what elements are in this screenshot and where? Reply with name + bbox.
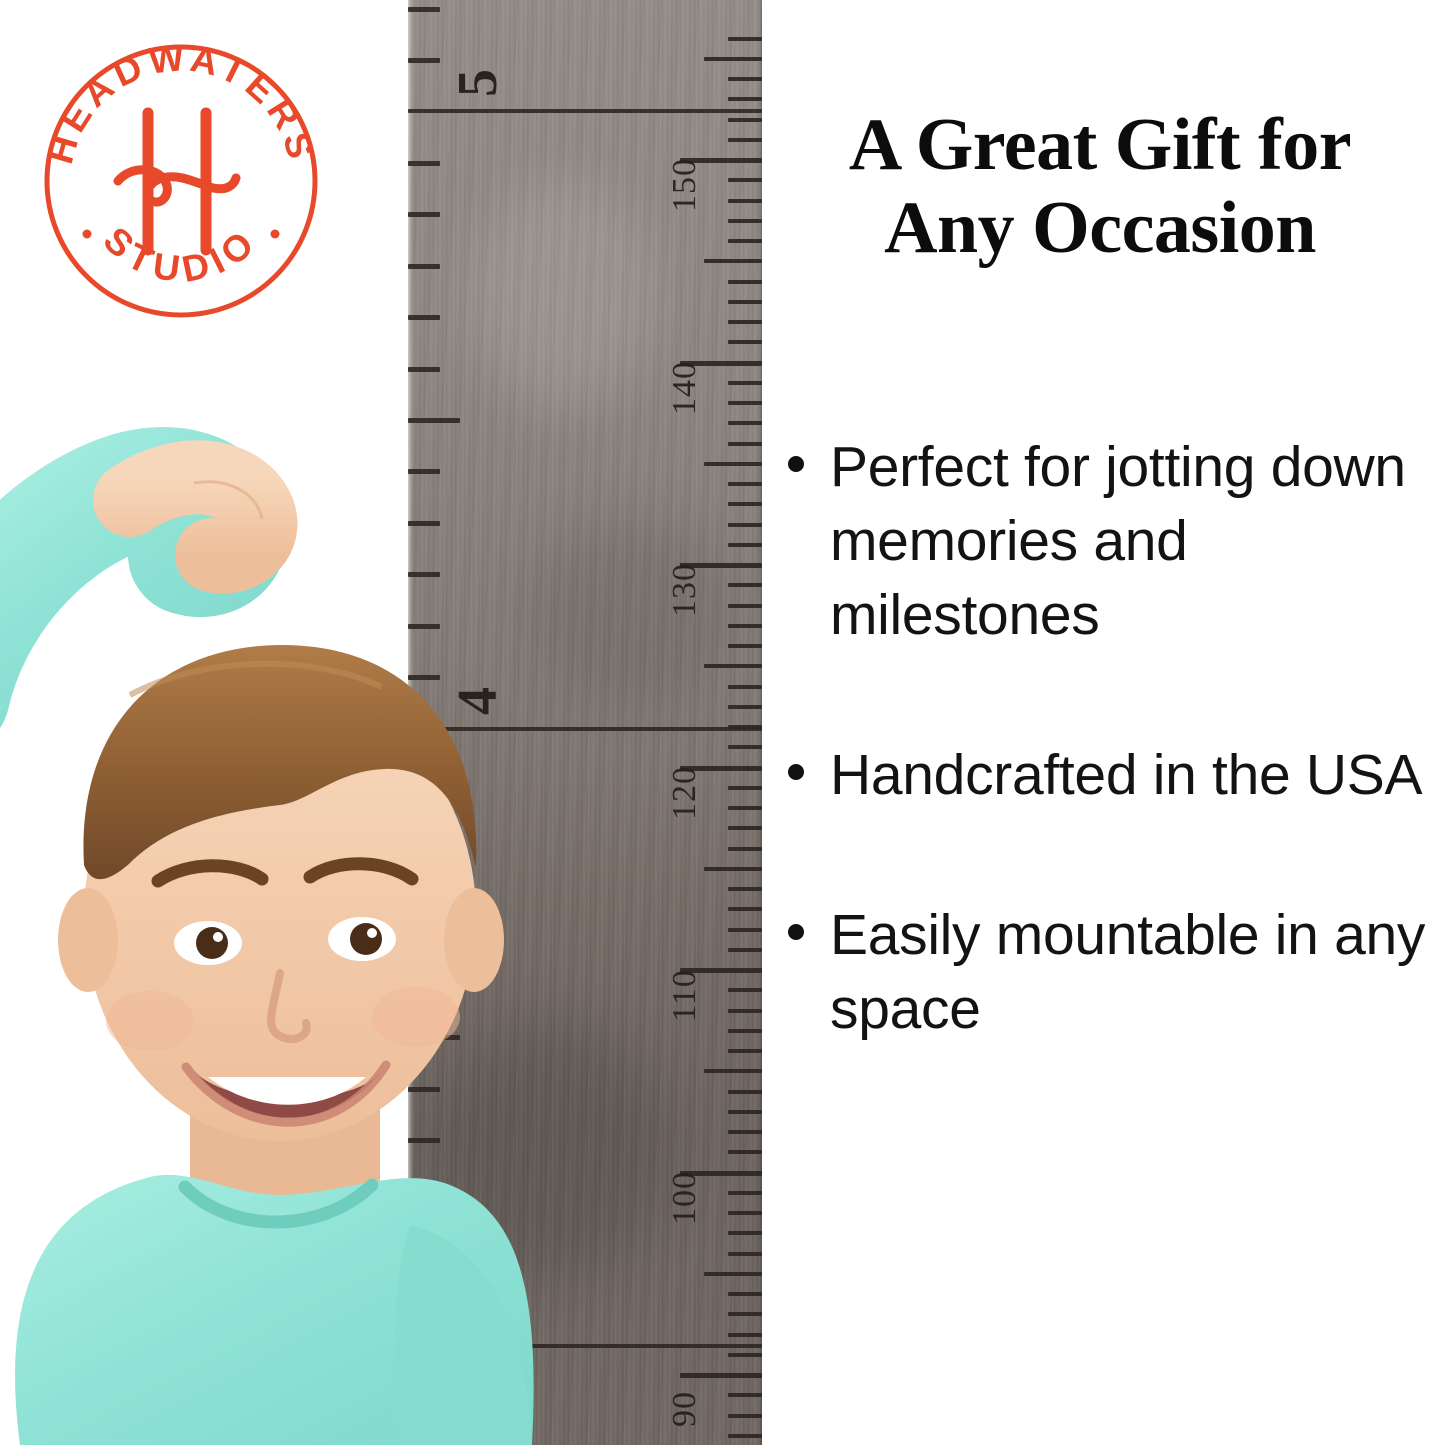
right-pupil [350,923,382,955]
ruler-tick-minor [728,948,762,952]
ruler-tick-minor [728,482,762,486]
ruler-cm-label: 130 [666,563,704,617]
ruler-tick-minor [728,705,762,709]
ruler-tick-mid [704,1272,762,1276]
left-pupil [196,927,228,959]
ruler-tick-minor [728,1110,762,1114]
ruler-tick-mid [704,57,762,61]
copy-panel: A Great Gift for Any Occasion Perfect fo… [780,0,1445,1445]
ruler-tick-mid [704,259,762,263]
ruler-tick-mid [704,462,762,466]
ruler-tick-minor [728,1211,762,1215]
ruler-inch-tick [408,367,440,372]
ruler-tick-minor [728,786,762,790]
ruler-tick-minor [728,320,762,324]
left-cheek [106,991,194,1051]
ruler-tick-minor [728,745,762,749]
list-item: Perfect for jotting down memories and mi… [788,430,1438,652]
list-item: Easily mountable in any space [788,898,1438,1046]
ruler-tick-minor [728,1191,762,1195]
ruler-tick-minor [728,1150,762,1154]
ruler-cm-label: 150 [666,158,704,212]
logo-arc-top: HEADWATERS [39,38,323,168]
headline-line-1: A Great Gift for [780,104,1420,187]
ruler-tick-minor [728,1231,762,1235]
bullet-text: Handcrafted in the USA [830,738,1422,812]
ruler-cm-label: 90 [666,1391,704,1427]
right-cheek [372,987,460,1047]
ruler-tick-mid [704,1069,762,1073]
ruler-tick-minor [728,1090,762,1094]
ruler-inch-tick [408,7,440,12]
ruler-right-edge-shadow [757,0,762,1445]
ruler-tick-minor [728,442,762,446]
ruler-inch-tick [408,264,440,269]
svg-text:HEADWATERS: HEADWATERS [39,38,323,168]
ruler-tick-minor [728,928,762,932]
ruler-tick-minor [728,1333,762,1337]
brand-logo: HEADWATERS STUDIO [38,38,324,324]
ruler-tick-minor [728,1292,762,1296]
bullet-dot-icon [788,764,804,780]
ruler-tick-minor [728,583,762,587]
ruler-tick-minor [728,1049,762,1053]
ruler-tick-minor [728,826,762,830]
ruler-tick-minor [728,178,762,182]
ruler-tick-minor [728,502,762,506]
ruler-tick-minor [728,1130,762,1134]
right-ear [444,888,504,992]
ruler-foot-label: 5 [446,69,510,97]
ruler-tick-minor [728,1009,762,1013]
ruler-tick-minor [728,988,762,992]
ruler-tick-minor [728,847,762,851]
ruler-tick-minor [728,340,762,344]
ruler-foot-line [408,109,762,113]
left-eye-glint [213,932,223,942]
ruler-tick-minor [728,239,762,243]
ruler-tick-minor [728,97,762,101]
product-infographic: HEADWATERS STUDIO 15014013012011010090 5… [0,0,1445,1445]
ruler-cm-label: 100 [666,1171,704,1225]
ruler-tick-minor [728,280,762,284]
wood-blotch [468,180,658,410]
ruler-tick-minor [728,1252,762,1256]
bullet-text: Easily mountable in any space [830,898,1438,1046]
ruler-cm-label: 120 [666,766,704,820]
ruler-tick-minor [728,219,762,223]
ruler-tick-minor [728,523,762,527]
ruler-cm-label: 140 [666,361,704,415]
ruler-cm-label: 110 [666,969,704,1022]
ruler-tick-minor [728,644,762,648]
ruler-tick-minor [728,1414,762,1418]
logo-monogram-icon [118,113,236,250]
ruler-tick-minor [728,604,762,608]
ruler-tick-minor [728,37,762,41]
ruler-inch-tick [408,315,440,320]
logo-arc-bottom: STUDIO [96,219,267,290]
ruler-tick-minor [728,138,762,142]
ruler-tick-minor [728,685,762,689]
ruler-tick-minor [728,887,762,891]
ruler-tick-minor [728,199,762,203]
ruler-tick-minor [728,624,762,628]
left-ear [58,888,118,992]
ruler-tick-major [680,1373,762,1378]
headline-line-2: Any Occasion [780,187,1420,270]
right-eye-glint [367,928,377,938]
ruler-tick-minor [728,421,762,425]
ruler-tick-minor [728,118,762,122]
svg-text:STUDIO: STUDIO [96,219,267,290]
ruler-tick-minor [728,1312,762,1316]
list-item: Handcrafted in the USA [788,738,1438,812]
ruler-tick-minor [728,1434,762,1438]
ruler-inch-tick [408,58,440,63]
child-photo [0,395,620,1445]
ruler-inch-tick [408,212,440,217]
feature-bullet-list: Perfect for jotting down memories and mi… [788,430,1438,1133]
ruler-tick-minor [728,381,762,385]
ruler-tick-minor [728,401,762,405]
ruler-tick-minor [728,77,762,81]
bullet-dot-icon [788,456,804,472]
ruler-tick-minor [728,1393,762,1397]
page-title: A Great Gift for Any Occasion [780,104,1420,270]
ruler-tick-minor [728,1029,762,1033]
bullet-dot-icon [788,924,804,940]
ruler-tick-minor [728,300,762,304]
ruler-tick-minor [728,543,762,547]
ruler-tick-mid [704,664,762,668]
bullet-text: Perfect for jotting down memories and mi… [830,430,1438,652]
ruler-tick-minor [728,1353,762,1357]
ruler-tick-minor [728,907,762,911]
ruler-tick-mid [704,867,762,871]
ruler-inch-tick [408,161,440,166]
ruler-tick-minor [728,806,762,810]
